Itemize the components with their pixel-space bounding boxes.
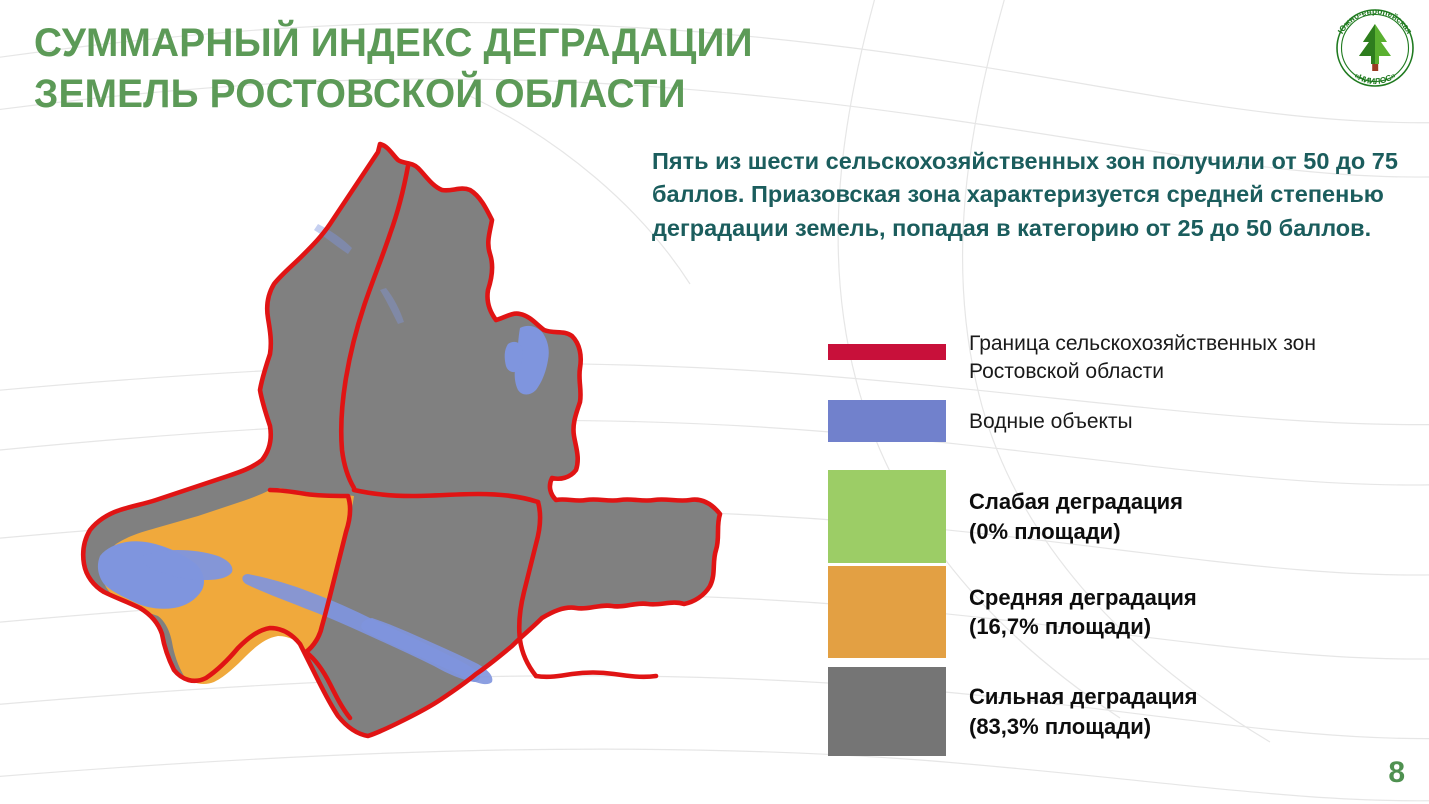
- legend-swatch-weak-degradation: [828, 470, 946, 563]
- legend-swatch-water-bodies: [828, 400, 946, 442]
- page-title-line-1: СУММАРНЫЙ ИНДЕКС ДЕГРАДАЦИИ: [34, 18, 926, 69]
- legend-label-zone-boundary: Граница сельскохозяйственных зон Ростовс…: [969, 330, 1408, 386]
- legend-swatch-strong-degradation: [828, 667, 946, 756]
- legend-item-strong-degradation[interactable]: Сильная деградация (83,3% площади): [828, 667, 1408, 756]
- slide-root: СУММАРНЫЙ ИНДЕКС ДЕГРАДАЦИИ ЗЕМЕЛЬ РОСТО…: [0, 0, 1429, 804]
- legend-swatch-medium-degradation: [828, 566, 946, 658]
- legend-item-water-bodies[interactable]: Водные объекты: [828, 400, 1408, 442]
- page-title-line-2: ЗЕМЕЛЬ РОСТОВСКОЙ ОБЛАСТИ: [34, 69, 926, 120]
- legend-label-weak-degradation-name: Слабая деградация: [969, 487, 1183, 516]
- legend-item-medium-degradation[interactable]: Средняя деградация (16,7% площади): [828, 566, 1408, 658]
- legend-label-medium-degradation-share: (16,7% площади): [969, 612, 1197, 641]
- legend-label-weak-degradation-share: (0% площади): [969, 517, 1183, 546]
- svg-text:«НИИЛОС»: «НИИЛОС»: [1353, 70, 1398, 86]
- page-number: 8: [1388, 756, 1405, 790]
- organization-logo-icon: Южно-европейская «НИИЛОС»: [1329, 2, 1421, 90]
- legend-label-strong-degradation: Сильная деградация (83,3% площади): [969, 682, 1198, 740]
- legend-item-zone-boundary[interactable]: Граница сельскохозяйственных зон Ростовс…: [828, 330, 1408, 386]
- legend-label-strong-degradation-name: Сильная деградация: [969, 682, 1198, 711]
- page-title: СУММАРНЫЙ ИНДЕКС ДЕГРАДАЦИИ ЗЕМЕЛЬ РОСТО…: [34, 18, 926, 120]
- legend-label-strong-degradation-share: (83,3% площади): [969, 712, 1198, 741]
- legend-label-medium-degradation-name: Средняя деградация: [969, 583, 1197, 612]
- legend-degradation-categories: Слабая деградация (0% площади) Средняя д…: [828, 470, 1408, 756]
- intro-paragraph: Пять из шести сельскохозяйственных зон п…: [652, 145, 1404, 245]
- legend-map-features: Граница сельскохозяйственных зон Ростовс…: [828, 330, 1408, 442]
- legend-label-water-bodies: Водные объекты: [969, 408, 1133, 436]
- legend-label-weak-degradation: Слабая деградация (0% площади): [969, 487, 1183, 545]
- legend-item-weak-degradation[interactable]: Слабая деградация (0% площади): [828, 470, 1408, 563]
- legend-swatch-zone-boundary: [828, 344, 946, 360]
- legend-label-medium-degradation: Средняя деградация (16,7% площади): [969, 583, 1197, 641]
